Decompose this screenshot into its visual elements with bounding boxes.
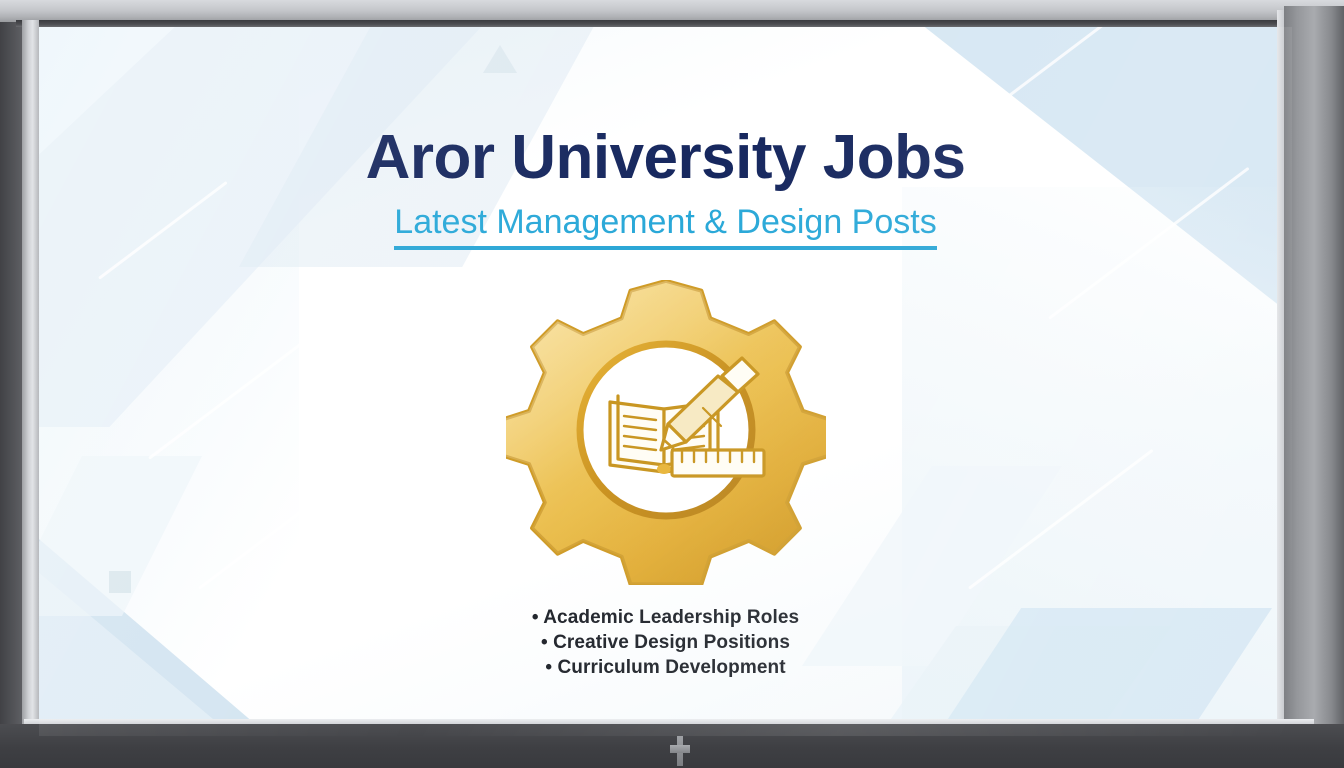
monitor-bezel-top-edge <box>16 20 1328 27</box>
presentation-slide: Aror University Jobs Latest Management &… <box>39 27 1292 736</box>
monitor-bezel-top <box>0 0 1344 22</box>
stand-mount-cross-icon <box>670 736 690 766</box>
slide-title: Aror University Jobs <box>366 122 966 193</box>
bullet-list: • Academic Leadership Roles • Creative D… <box>532 607 799 679</box>
monitor-bezel-right <box>1284 6 1344 758</box>
bullet-item-1: • Academic Leadership Roles <box>532 607 799 629</box>
monitor-device: Aror University Jobs Latest Management &… <box>0 0 1344 768</box>
gear-education-icon <box>506 280 826 585</box>
bullet-item-2: • Creative Design Positions <box>541 632 790 654</box>
slide-content: Aror University Jobs Latest Management &… <box>39 27 1292 736</box>
slide-subtitle: Latest Management & Design Posts <box>394 203 936 250</box>
ruler-icon <box>672 450 764 476</box>
bullet-item-3: • Curriculum Development <box>545 657 785 679</box>
monitor-bezel-left <box>22 20 39 736</box>
